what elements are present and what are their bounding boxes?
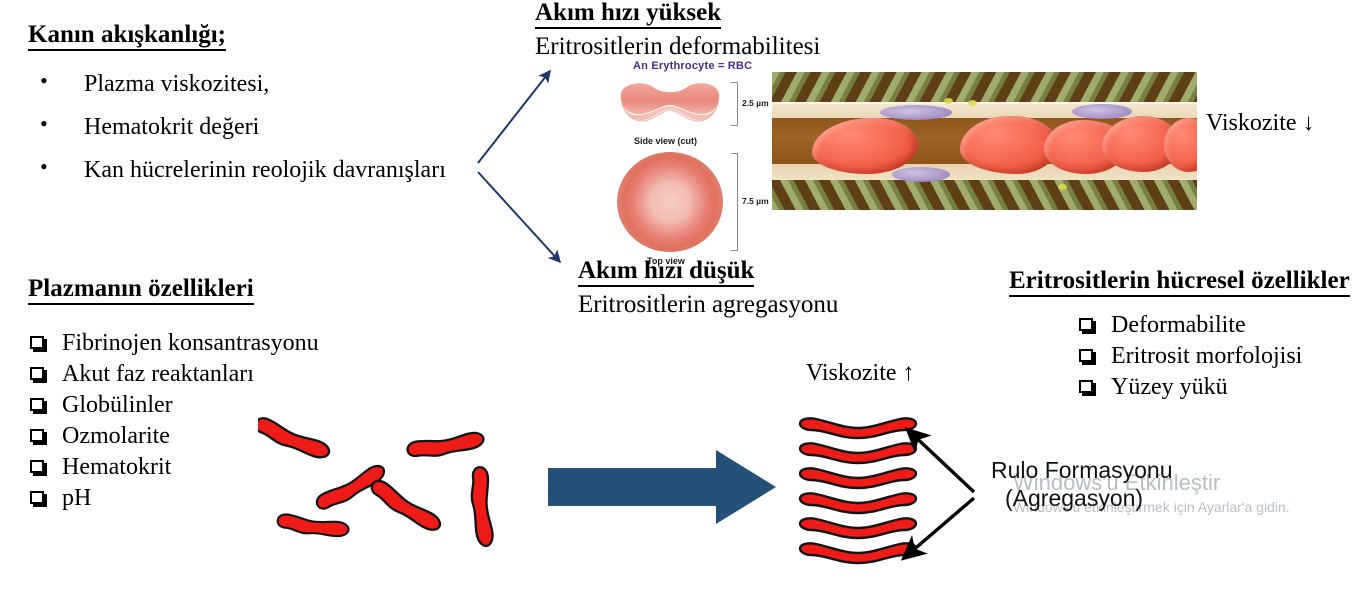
branch-arrow-down bbox=[478, 172, 560, 262]
erythrocyte-properties-block: Eritrositlerin hücresel özellikler Defor… bbox=[1009, 268, 1350, 406]
tissue-granule bbox=[968, 100, 977, 106]
low-flow-block: Akım hızı düşük Eritrositlerin agregasyo… bbox=[578, 258, 838, 319]
erythrocyte-side-shape bbox=[617, 79, 723, 131]
capillary-bottom-tissue bbox=[772, 180, 1197, 210]
endothelial-nucleus bbox=[1072, 104, 1132, 119]
high-flow-block: Akım hızı yüksek Eritrositlerin deformab… bbox=[535, 0, 820, 61]
checkbox-icon bbox=[30, 367, 44, 380]
list-item-label: Fibrinojen konsantrasyonu bbox=[62, 330, 319, 356]
list-item-label: Ozmolarite bbox=[62, 423, 170, 449]
checkbox-icon bbox=[1079, 380, 1093, 393]
erythrocyte-diagram: An Erythrocyte = RBC bbox=[603, 60, 778, 260]
low-flow-subtitle: Eritrositlerin agregasyonu bbox=[578, 291, 838, 319]
viscosity-up-label: Viskozite ↑ bbox=[806, 360, 915, 386]
branch-arrow-up bbox=[478, 71, 550, 163]
rouleaux-pointer-arrows bbox=[890, 418, 1000, 566]
list-item: Deformabilite bbox=[1077, 313, 1350, 337]
erythrocyte-side-view bbox=[617, 79, 723, 131]
rouleaux-label: Rulo Formasyonu (Agregasyon) bbox=[991, 456, 1173, 512]
checkbox-icon bbox=[1079, 318, 1093, 331]
list-item-label: Akut faz reaktanları bbox=[62, 361, 254, 387]
erythrocyte-top-view bbox=[617, 152, 723, 252]
list-item: Eritrosit morfolojisi bbox=[1077, 344, 1350, 368]
slide-canvas: Kanın akışkanlığı; Plazma viskozitesi, H… bbox=[0, 0, 1357, 589]
list-item: Plazma viskozitesi, bbox=[28, 72, 446, 96]
flow-block-arrow bbox=[548, 450, 776, 524]
endothelial-nucleus bbox=[880, 105, 952, 120]
side-view-brace bbox=[731, 82, 738, 126]
erythrocyte bbox=[465, 466, 499, 547]
erythrocyte-diagram-title: An Erythrocyte = RBC bbox=[633, 60, 752, 72]
tissue-granule bbox=[944, 98, 953, 104]
low-flow-title: Akım hızı düşük bbox=[578, 258, 754, 287]
dispersed-erythrocytes bbox=[258, 408, 528, 580]
endothelial-nucleus bbox=[892, 167, 950, 182]
high-flow-subtitle: Eritrositlerin deformabilitesi bbox=[535, 33, 820, 61]
erythrocyte-properties-title: Eritrositlerin hücresel özellikler bbox=[1009, 268, 1350, 297]
list-item-label: Hematokrit bbox=[62, 454, 171, 480]
erythrocyte bbox=[277, 514, 349, 537]
checkbox-icon bbox=[30, 398, 44, 411]
list-item: Fibrinojen konsantrasyonu bbox=[28, 331, 319, 355]
top-view-dimension: 7.5 µm bbox=[742, 196, 769, 206]
checkbox-icon bbox=[30, 460, 44, 473]
blood-fluidity-title: Kanın akışkanlığı; bbox=[28, 22, 226, 51]
erythrocyte bbox=[366, 478, 445, 534]
blood-fluidity-list: Plazma viskozitesi, Hematokrit değeri Ka… bbox=[28, 72, 446, 182]
top-view-brace bbox=[731, 153, 738, 251]
list-item-label: Globülinler bbox=[62, 392, 173, 418]
checkbox-icon bbox=[30, 429, 44, 442]
rouleaux-label-line1: Rulo Formasyonu bbox=[991, 456, 1173, 484]
list-item: Yüzey yükü bbox=[1077, 375, 1350, 399]
list-item-label: pH bbox=[62, 485, 91, 511]
list-item: Hematokrit değeri bbox=[28, 115, 446, 139]
checkbox-icon bbox=[30, 336, 44, 349]
blood-fluidity-block: Kanın akışkanlığı; Plazma viskozitesi, H… bbox=[28, 22, 446, 201]
checkbox-icon bbox=[1079, 349, 1093, 362]
pointer-arrow-up bbox=[908, 430, 974, 492]
side-view-caption: Side view (cut) bbox=[634, 136, 697, 146]
rouleaux-label-line2: (Agregasyon) bbox=[1005, 484, 1173, 512]
erythrocyte bbox=[406, 425, 485, 463]
list-item: Akut faz reaktanları bbox=[28, 362, 319, 386]
high-flow-title: Akım hızı yüksek bbox=[535, 0, 721, 29]
side-view-dimension: 2.5 µm bbox=[742, 98, 769, 108]
plasma-properties-title: Plazmanın özellikleri bbox=[28, 276, 254, 305]
checkbox-icon bbox=[30, 491, 44, 504]
list-item-label: Yüzey yükü bbox=[1111, 374, 1228, 400]
list-item-label: Deformabilite bbox=[1111, 312, 1246, 338]
erythrocyte-properties-list: Deformabilite Eritrosit morfolojisi Yüze… bbox=[1077, 313, 1350, 399]
branch-arrows bbox=[470, 62, 580, 277]
list-item-label: Eritrosit morfolojisi bbox=[1111, 343, 1302, 369]
erythrocyte bbox=[258, 416, 333, 460]
list-item: Kan hücrelerinin reolojik davranışları bbox=[28, 158, 446, 182]
pointer-arrow-down bbox=[904, 498, 974, 558]
tissue-granule bbox=[1058, 184, 1067, 190]
viscosity-down-label: Viskozite ↓ bbox=[1206, 110, 1315, 136]
capillary-micrograph bbox=[772, 72, 1197, 210]
